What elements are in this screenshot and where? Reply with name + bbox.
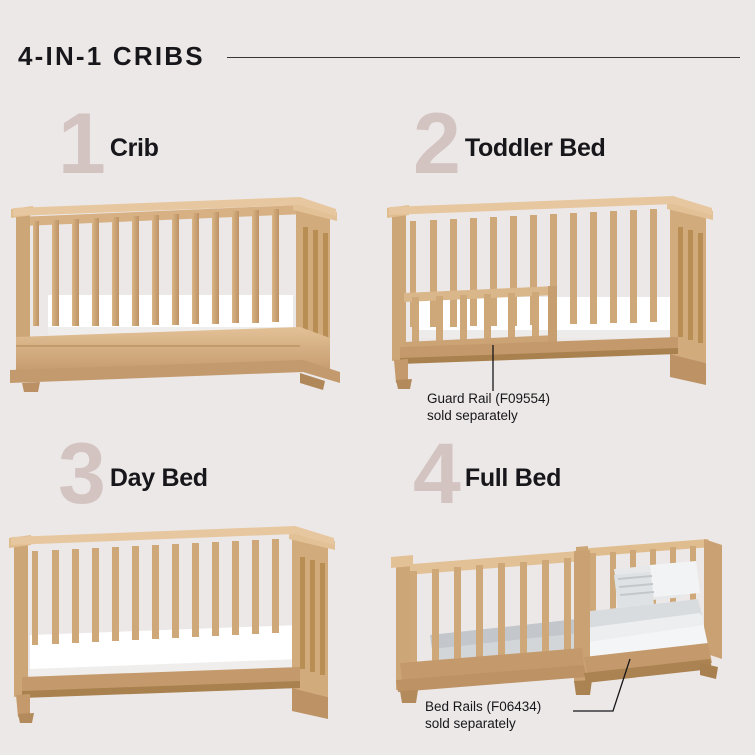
crib-illustration-3: [0, 517, 377, 732]
page-header: 4-IN-1 CRIBS: [18, 38, 740, 74]
step-heading-1: 1 Crib: [58, 103, 159, 185]
page-title: 4-IN-1 CRIBS: [18, 43, 205, 69]
step-number-2: 2: [413, 109, 459, 180]
step-label-2: Toddler Bed: [465, 134, 606, 163]
callout-bed-rails: Bed Rails (F06434) sold separately: [425, 698, 541, 733]
crib-illustration-2: [378, 187, 755, 402]
step-number-1: 1: [58, 109, 104, 180]
step-heading-3: 3 Day Bed: [58, 433, 208, 515]
step-heading-2: 2 Toddler Bed: [413, 103, 606, 185]
steps-grid: 1 Crib: [0, 95, 755, 755]
step-panel-toddler-bed: 2 Toddler Bed: [378, 95, 755, 425]
step-heading-4: 4 Full Bed: [413, 433, 561, 515]
callout-guard-rail-line2: sold separately: [427, 407, 550, 424]
callout-guard-rail: Guard Rail (F09554) sold separately: [427, 390, 550, 425]
step-label-1: Crib: [110, 134, 159, 163]
header-divider: [227, 57, 740, 59]
callout-guard-rail-line1: Guard Rail (F09554): [427, 390, 550, 407]
step-label-3: Day Bed: [110, 464, 208, 493]
callout-bed-rails-line1: Bed Rails (F06434): [425, 698, 541, 715]
step-number-4: 4: [413, 439, 459, 510]
step-number-3: 3: [58, 439, 104, 510]
step-label-4: Full Bed: [465, 464, 561, 493]
step-panel-day-bed: 3 Day Bed: [0, 425, 377, 755]
crib-illustration-1: [0, 187, 377, 402]
step-panel-crib: 1 Crib: [0, 95, 377, 425]
callout-bed-rails-line2: sold separately: [425, 715, 541, 732]
